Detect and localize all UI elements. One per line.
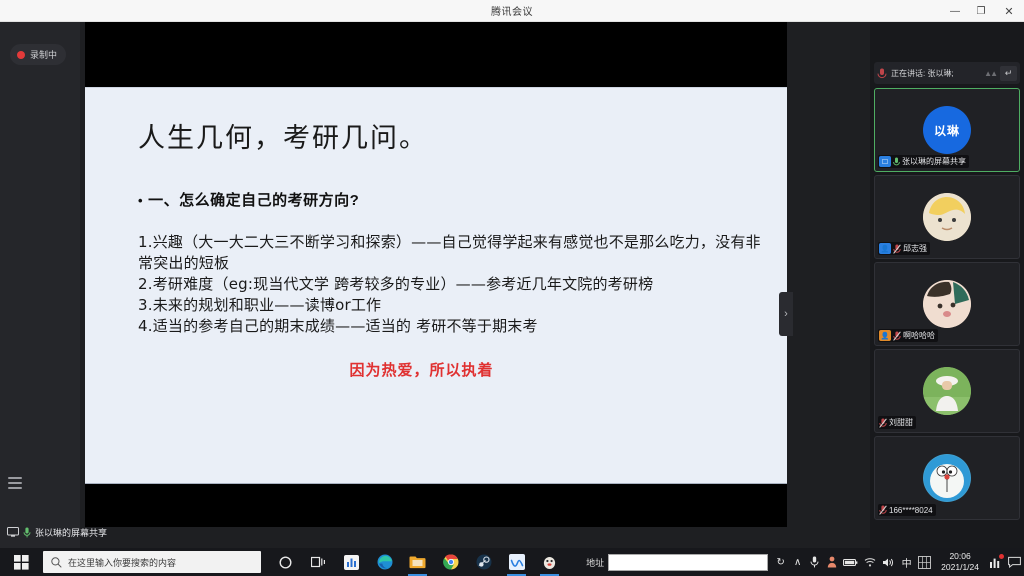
microphone-muted-icon bbox=[893, 331, 901, 341]
network-icon[interactable] bbox=[861, 548, 879, 576]
slide-line: 1.兴趣（大一大二大三不断学习和探索）——自己觉得学起来有感觉也不是那么吃力，没… bbox=[138, 232, 765, 274]
clock-date: 2021/1/24 bbox=[941, 562, 979, 573]
participant-name: 刘甜甜 bbox=[889, 417, 913, 428]
screen-share-footer-label: 张以琳的屏幕共享 bbox=[35, 526, 107, 539]
microphone-muted-icon bbox=[879, 505, 887, 515]
participant-footer: 👤 啊哈哈哈 bbox=[878, 329, 938, 342]
clock-time: 20:06 bbox=[949, 551, 970, 562]
chevron-right-icon: › bbox=[784, 308, 788, 320]
avatar: 以琳 bbox=[923, 106, 971, 154]
microphone-muted-icon bbox=[879, 418, 887, 428]
speaking-label: 正在讲话: 张以琳; bbox=[891, 68, 954, 79]
battery-icon[interactable] bbox=[840, 548, 861, 576]
video-off-badge-icon: 👤 bbox=[879, 243, 891, 254]
edge-icon[interactable] bbox=[368, 548, 401, 576]
avatar bbox=[923, 454, 971, 502]
avatar bbox=[923, 193, 971, 241]
volume-icon[interactable] bbox=[879, 548, 898, 576]
participant-tile[interactable]: 刘甜甜 bbox=[874, 349, 1020, 433]
screen-share-footer: 张以琳的屏幕共享 bbox=[0, 524, 870, 540]
address-bar[interactable]: 地址 bbox=[586, 554, 768, 571]
stats-tray-icon[interactable] bbox=[986, 548, 1005, 576]
participant-name: 张以琳的屏幕共享 bbox=[902, 156, 966, 167]
presentation-slide: 人生几何，考研几问。 • 一、怎么确定自己的考研方向? 1.兴趣（大一大二大三不… bbox=[85, 87, 787, 484]
cortana-icon[interactable] bbox=[269, 548, 302, 576]
screen-share-badge-icon: ☐ bbox=[879, 156, 891, 167]
search-icon bbox=[51, 557, 62, 568]
slide-line: 2.考研难度（eg:现当代文学 跨考较多的专业）——参考近几年文院的考研榜 bbox=[138, 274, 765, 295]
panel-collapse-handle[interactable]: › bbox=[779, 292, 793, 336]
tencent-meeting-icon[interactable] bbox=[500, 548, 533, 576]
participant-footer: ☐ 张以琳的屏幕共享 bbox=[878, 155, 969, 168]
slide-line: 4.适当的参考自己的期末成绩——适当的 考研不等于期末考 bbox=[138, 316, 765, 337]
participant-name: 啊哈哈哈 bbox=[903, 330, 935, 341]
file-explorer-icon[interactable] bbox=[401, 548, 434, 576]
meeting-window: 录制中 人生几何，考研几问。 • 一、怎么确定自己的考研方向? 1.兴趣（大一大… bbox=[0, 22, 1024, 548]
avatar-photo bbox=[923, 367, 971, 415]
participant-tile[interactable]: 👤 啊哈哈哈 bbox=[874, 262, 1020, 346]
app-title: 腾讯会议 bbox=[491, 3, 533, 18]
recording-dot-icon bbox=[17, 51, 25, 59]
microphone-icon bbox=[23, 527, 31, 538]
minimize-button[interactable]: — bbox=[942, 0, 968, 22]
shared-screen-stage[interactable]: 人生几何，考研几问。 • 一、怎么确定自己的考研方向? 1.兴趣（大一大二大三不… bbox=[85, 22, 787, 527]
recording-label: 录制中 bbox=[30, 48, 57, 61]
maximize-button[interactable]: ❐ bbox=[968, 0, 994, 22]
participant-name: 邱志强 bbox=[903, 243, 927, 254]
slide-body: 1.兴趣（大一大二大三不断学习和探索）——自己觉得学起来有感觉也不是那么吃力，没… bbox=[138, 232, 765, 337]
participant-name: 166****8024 bbox=[889, 506, 933, 515]
participant-tile[interactable]: 👤 邱志强 bbox=[874, 175, 1020, 259]
tray-overflow-icon[interactable]: ∧ bbox=[789, 548, 806, 576]
search-placeholder: 在这里输入你要搜索的内容 bbox=[68, 556, 176, 569]
participant-tile[interactable]: 以琳 ☐ 张以琳的屏幕共享 bbox=[874, 88, 1020, 172]
slide-line: 3.未来的规划和职业——读博or工作 bbox=[138, 295, 765, 316]
taskbar-icons bbox=[269, 548, 566, 576]
address-input[interactable] bbox=[608, 554, 768, 571]
ime-mode-icon[interactable]: 中 bbox=[898, 548, 915, 576]
security-icon[interactable] bbox=[823, 548, 840, 576]
slide-title: 人生几何，考研几问。 bbox=[138, 116, 765, 155]
avatar-initials: 以琳 bbox=[934, 122, 960, 139]
participants-list-icon[interactable] bbox=[5, 472, 27, 494]
avatar-photo bbox=[923, 280, 971, 328]
task-view-icon[interactable] bbox=[302, 548, 335, 576]
slide-heading: • 一、怎么确定自己的考研方向? bbox=[138, 189, 765, 210]
slide-accent-text: 因为热爱，所以执着 bbox=[138, 359, 765, 380]
windows-taskbar: 在这里输入你要搜索的内容 bbox=[0, 548, 1024, 576]
bullet-dot-icon: • bbox=[138, 194, 143, 207]
stats-app-icon[interactable] bbox=[335, 548, 368, 576]
participant-tile[interactable]: 166****8024 bbox=[874, 436, 1020, 520]
speaker-mic-icon bbox=[877, 68, 887, 79]
windows-start-icon[interactable] bbox=[0, 548, 42, 576]
microphone-icon[interactable] bbox=[806, 548, 823, 576]
chevron-collapse-icon[interactable]: ▲▲ bbox=[984, 69, 996, 78]
refresh-icon[interactable]: ↻ bbox=[772, 548, 789, 576]
participant-footer: 👤 邱志强 bbox=[878, 242, 930, 255]
steam-icon[interactable] bbox=[467, 548, 500, 576]
slide-heading-text: 一、怎么确定自己的考研方向? bbox=[148, 189, 359, 210]
panel-header: 正在讲话: 张以琳; ▲▲ ↵ bbox=[874, 62, 1020, 84]
action-center-icon[interactable] bbox=[1005, 548, 1024, 576]
ime-pinyin-icon[interactable] bbox=[915, 548, 934, 576]
microphone-muted-icon bbox=[893, 244, 901, 254]
avatar-photo bbox=[923, 454, 971, 502]
search-input[interactable]: 在这里输入你要搜索的内容 bbox=[43, 551, 261, 573]
qq-icon[interactable] bbox=[533, 548, 566, 576]
taskbar-clock[interactable]: 20:06 2021/1/24 bbox=[934, 548, 986, 576]
avatar bbox=[923, 367, 971, 415]
system-tray: 地址 ↻ ∧ bbox=[586, 548, 1024, 576]
participant-footer: 刘甜甜 bbox=[878, 416, 916, 429]
chrome-icon[interactable] bbox=[434, 548, 467, 576]
recording-indicator: 录制中 bbox=[10, 44, 66, 65]
participant-panel: 正在讲话: 张以琳; ▲▲ ↵ 以琳 ☐ 张以琳的屏幕共享 bbox=[870, 22, 1024, 548]
back-arrow-icon[interactable]: ↵ bbox=[1000, 66, 1017, 81]
video-off-badge-icon: 👤 bbox=[879, 330, 891, 341]
participant-footer: 166****8024 bbox=[878, 504, 936, 516]
window-controls: — ❐ ✕ bbox=[942, 0, 1024, 22]
avatar-photo bbox=[923, 193, 971, 241]
close-button[interactable]: ✕ bbox=[994, 0, 1024, 22]
microphone-icon bbox=[893, 157, 900, 167]
monitor-icon bbox=[7, 527, 19, 537]
participant-tiles: 以琳 ☐ 张以琳的屏幕共享 bbox=[874, 88, 1020, 523]
avatar bbox=[923, 280, 971, 328]
left-rail: 录制中 bbox=[0, 22, 80, 548]
address-label: 地址 bbox=[586, 556, 604, 569]
window-title-bar: 腾讯会议 — ❐ ✕ bbox=[0, 0, 1024, 22]
